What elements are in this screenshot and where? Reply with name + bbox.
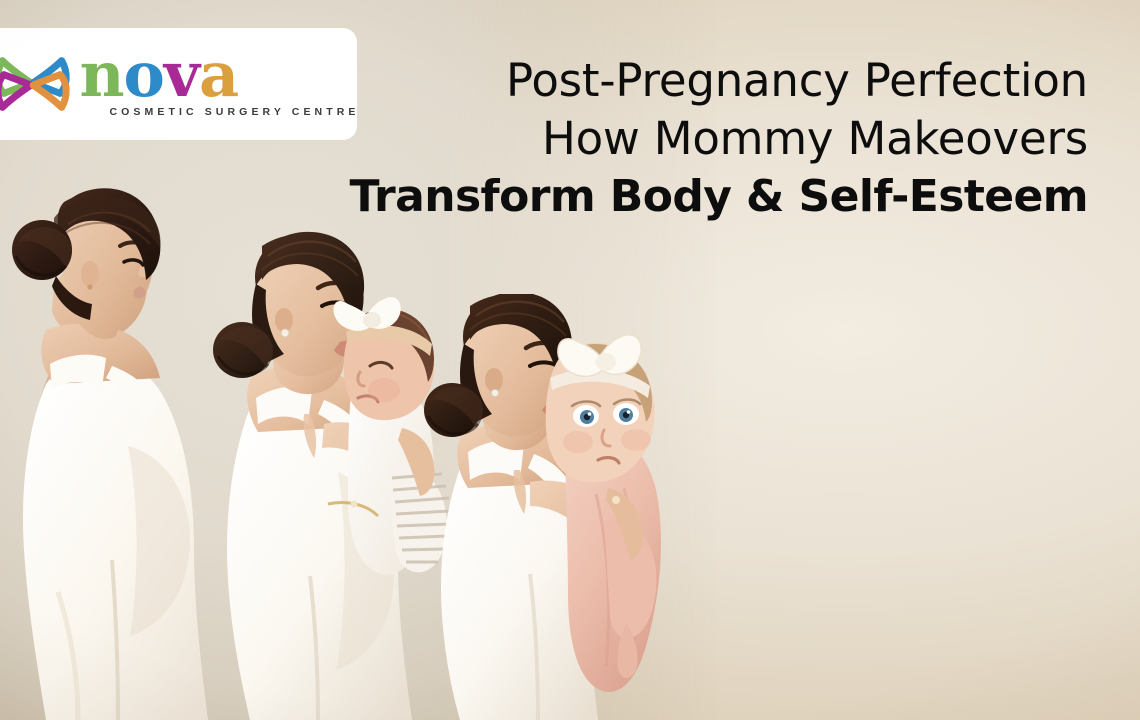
mother-newborn-illustration <box>206 228 456 720</box>
wordmark-letter-n: n <box>79 50 123 101</box>
nova-butterfly-logo-icon <box>0 45 71 123</box>
headline-line-3: Transform Body & Self-Esteem <box>349 168 1088 225</box>
nova-wordmark-block: nova COSMETIC SURGERY CENTRE <box>79 50 359 119</box>
nova-wordmark: nova <box>79 50 359 101</box>
wordmark-letter-o: o <box>124 50 164 101</box>
wordmark-letter-a: a <box>199 50 238 101</box>
logo-row: nova COSMETIC SURGERY CENTRE <box>0 45 360 123</box>
wordmark-letter-v: v <box>164 50 199 101</box>
mother-infant-illustration <box>420 294 680 720</box>
nova-logo-card[interactable]: nova COSMETIC SURGERY CENTRE <box>0 28 357 140</box>
headline-line-1: Post-Pregnancy Perfection <box>349 52 1088 110</box>
figure-mother-with-newborn <box>206 228 456 720</box>
figure-mother-with-infant <box>420 294 680 720</box>
headline-line-2: How Mommy Makeovers <box>349 110 1088 169</box>
logo-tagline: COSMETIC SURGERY CENTRE <box>109 106 359 118</box>
headline-block: Post-Pregnancy Perfection How Mommy Make… <box>349 52 1088 225</box>
promotional-banner: nova COSMETIC SURGERY CENTRE Post-Pregna… <box>0 0 1140 720</box>
